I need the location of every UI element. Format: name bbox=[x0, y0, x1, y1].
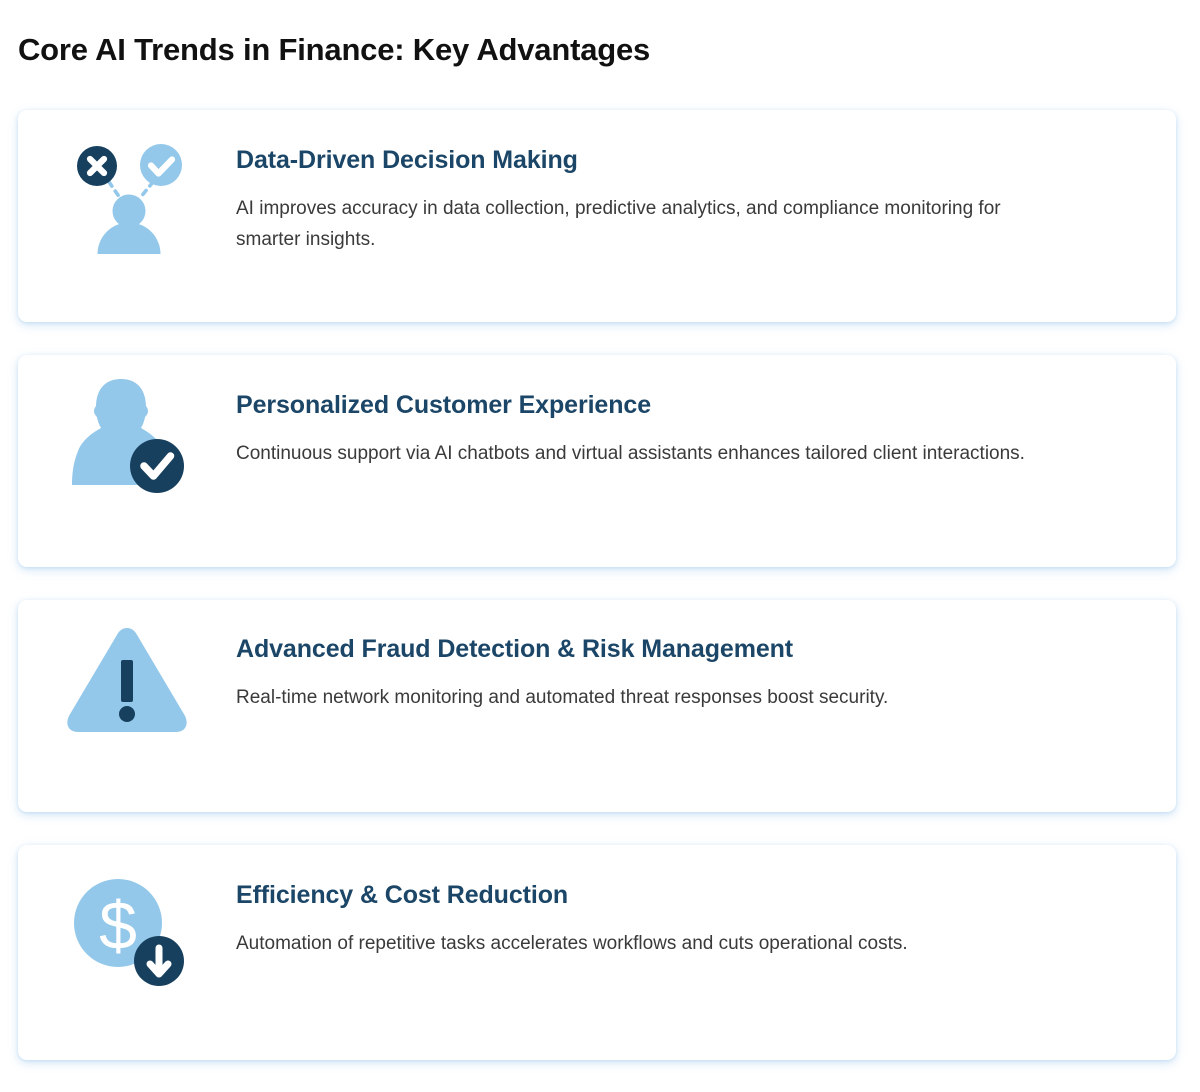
card-text-container: Advanced Fraud Detection & Risk Manageme… bbox=[236, 600, 1176, 714]
advantage-card[interactable]: Personalized Customer Experience Continu… bbox=[18, 355, 1176, 567]
card-heading: Advanced Fraud Detection & Risk Manageme… bbox=[236, 635, 1146, 664]
card-text-container: Personalized Customer Experience Continu… bbox=[236, 355, 1176, 470]
card-icon-container bbox=[18, 355, 236, 495]
dollar-circle-down-arrow-icon: $ bbox=[67, 871, 187, 989]
card-icon-container: $ bbox=[18, 845, 236, 989]
card-description: Real-time network monitoring and automat… bbox=[236, 683, 1066, 714]
card-description: Automation of repetitive tasks accelerat… bbox=[236, 929, 1066, 960]
card-text-container: Efficiency & Cost Reduction Automation o… bbox=[236, 845, 1176, 960]
card-icon-container bbox=[18, 600, 236, 734]
card-heading: Data-Driven Decision Making bbox=[236, 146, 1146, 175]
card-text-container: Data-Driven Decision Making AI improves … bbox=[236, 110, 1176, 255]
svg-text:$: $ bbox=[99, 888, 137, 964]
card-icon-container bbox=[18, 110, 236, 254]
card-description: AI improves accuracy in data collection,… bbox=[236, 194, 1066, 256]
person-decision-x-check-icon bbox=[67, 134, 187, 254]
page-title: Core AI Trends in Finance: Key Advantage… bbox=[18, 32, 650, 68]
infographic-page: Core AI Trends in Finance: Key Advantage… bbox=[0, 0, 1200, 1092]
advantage-card[interactable]: Data-Driven Decision Making AI improves … bbox=[18, 110, 1176, 322]
card-heading: Personalized Customer Experience bbox=[236, 391, 1146, 420]
advantage-card-list: Data-Driven Decision Making AI improves … bbox=[18, 110, 1176, 1060]
person-verified-check-badge-icon bbox=[69, 373, 185, 495]
warning-triangle-exclamation-icon bbox=[64, 622, 190, 734]
card-heading: Efficiency & Cost Reduction bbox=[236, 881, 1146, 910]
advantage-card[interactable]: $ Efficiency & Cost Reduction Automation… bbox=[18, 845, 1176, 1060]
card-description: Continuous support via AI chatbots and v… bbox=[236, 439, 1066, 470]
advantage-card[interactable]: Advanced Fraud Detection & Risk Manageme… bbox=[18, 600, 1176, 812]
